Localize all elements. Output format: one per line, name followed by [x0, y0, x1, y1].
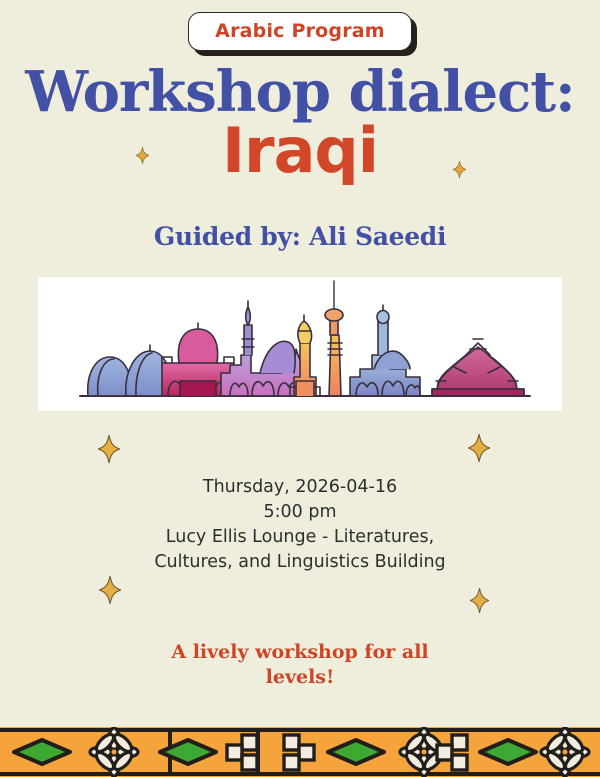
poster-canvas: Arabic Program Workshop dialect: Iraqi G… [0, 0, 600, 777]
tagline-line2: levels! [0, 665, 600, 690]
event-details: Thursday, 2026-04-16 5:00 pm Lucy Ellis … [0, 475, 600, 574]
presenter-label: Guided by: Ali Saeedi [0, 222, 600, 251]
skyline-artwork-panel [38, 277, 562, 411]
tagline-line1: A lively workshop for all [171, 641, 428, 663]
event-time: 5:00 pm [0, 500, 600, 525]
ornament-border [0, 727, 600, 777]
event-date: Thursday, 2026-04-16 [0, 475, 600, 500]
baghdad-skyline-icon [38, 277, 562, 411]
sparkle-mid-left-icon [98, 435, 120, 463]
geometric-tile-border-icon [0, 727, 600, 777]
program-badge[interactable]: Arabic Program [188, 12, 412, 51]
page-title-line1: Workshop dialect: [0, 64, 600, 120]
page-title-line2: Iraqi [0, 120, 600, 182]
sparkle-mid-right-icon [468, 434, 490, 462]
sparkle-low-left-icon [99, 576, 121, 604]
badge-container: Arabic Program [0, 12, 600, 51]
event-venue-line1: Lucy Ellis Lounge - Literatures, [0, 525, 600, 550]
program-badge-label: Arabic Program [215, 20, 385, 42]
sparkle-top-right-icon [453, 161, 466, 178]
sparkle-top-left-icon [136, 147, 149, 164]
event-tagline: A lively workshop for all levels! [0, 640, 600, 689]
sparkle-low-right-icon [470, 588, 489, 613]
event-venue-line2: Cultures, and Linguistics Building [0, 550, 600, 575]
